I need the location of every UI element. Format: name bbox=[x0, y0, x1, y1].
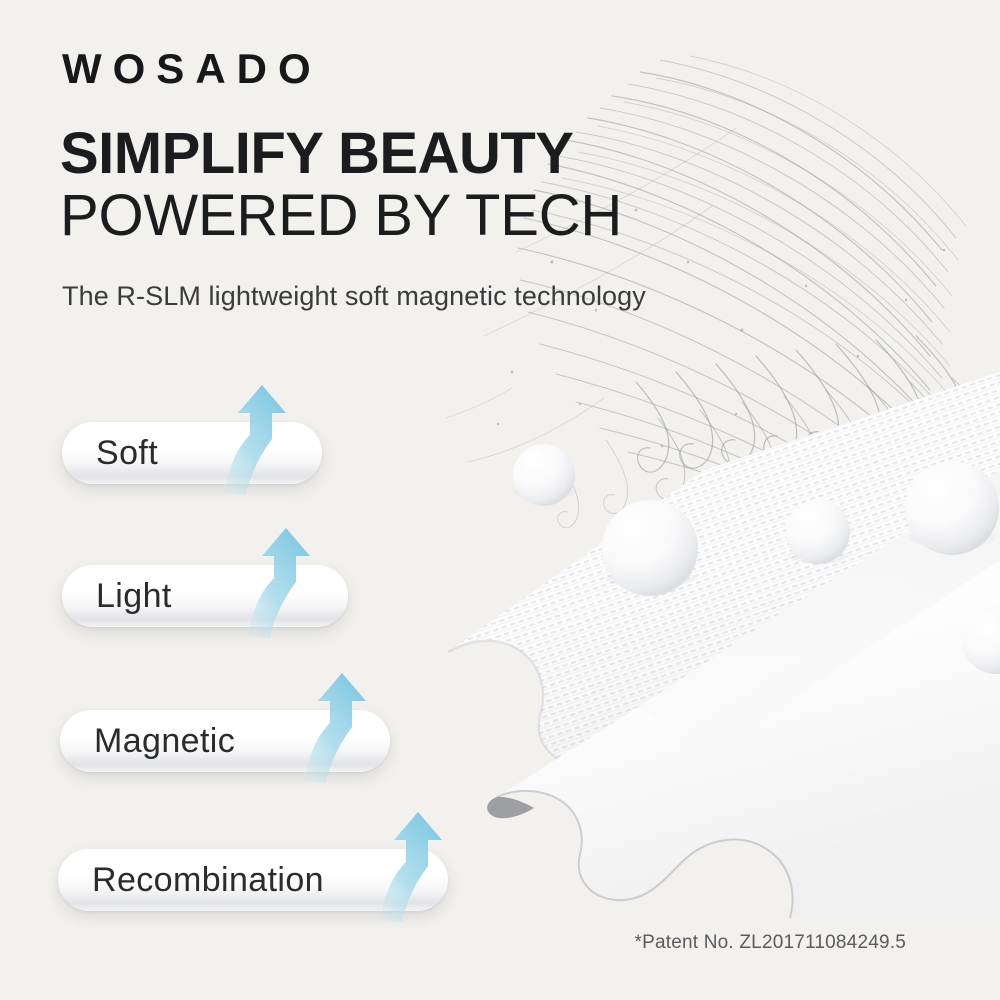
headline-line-2: POWERED BY TECH bbox=[60, 184, 622, 249]
patent-footnote: *Patent No. ZL201711084249.5 bbox=[635, 932, 906, 954]
headline-block: SIMPLIFY BEAUTY POWERED BY TECH bbox=[60, 124, 622, 249]
poster-canvas: WOSADO SIMPLIFY BEAUTY POWERED BY TECH T… bbox=[0, 0, 1000, 1000]
brand-logo-text: WOSADO bbox=[62, 45, 322, 92]
feature-pill-recombination[interactable]: Recombination bbox=[58, 849, 448, 911]
feature-label-soft: Soft bbox=[62, 434, 158, 473]
feature-label-light: Light bbox=[62, 577, 172, 616]
subtitle-text: The R-SLM lightweight soft magnetic tech… bbox=[62, 281, 646, 312]
feature-label-recombination: Recombination bbox=[58, 861, 324, 900]
brand-logo: WOSADO bbox=[62, 48, 322, 90]
feature-label-magnetic: Magnetic bbox=[60, 722, 235, 761]
feature-pill-light[interactable]: Light bbox=[62, 565, 348, 627]
feature-pill-soft[interactable]: Soft bbox=[62, 422, 322, 484]
feature-pill-magnetic[interactable]: Magnetic bbox=[60, 710, 390, 772]
headline-line-1: SIMPLIFY BEAUTY bbox=[60, 124, 622, 184]
